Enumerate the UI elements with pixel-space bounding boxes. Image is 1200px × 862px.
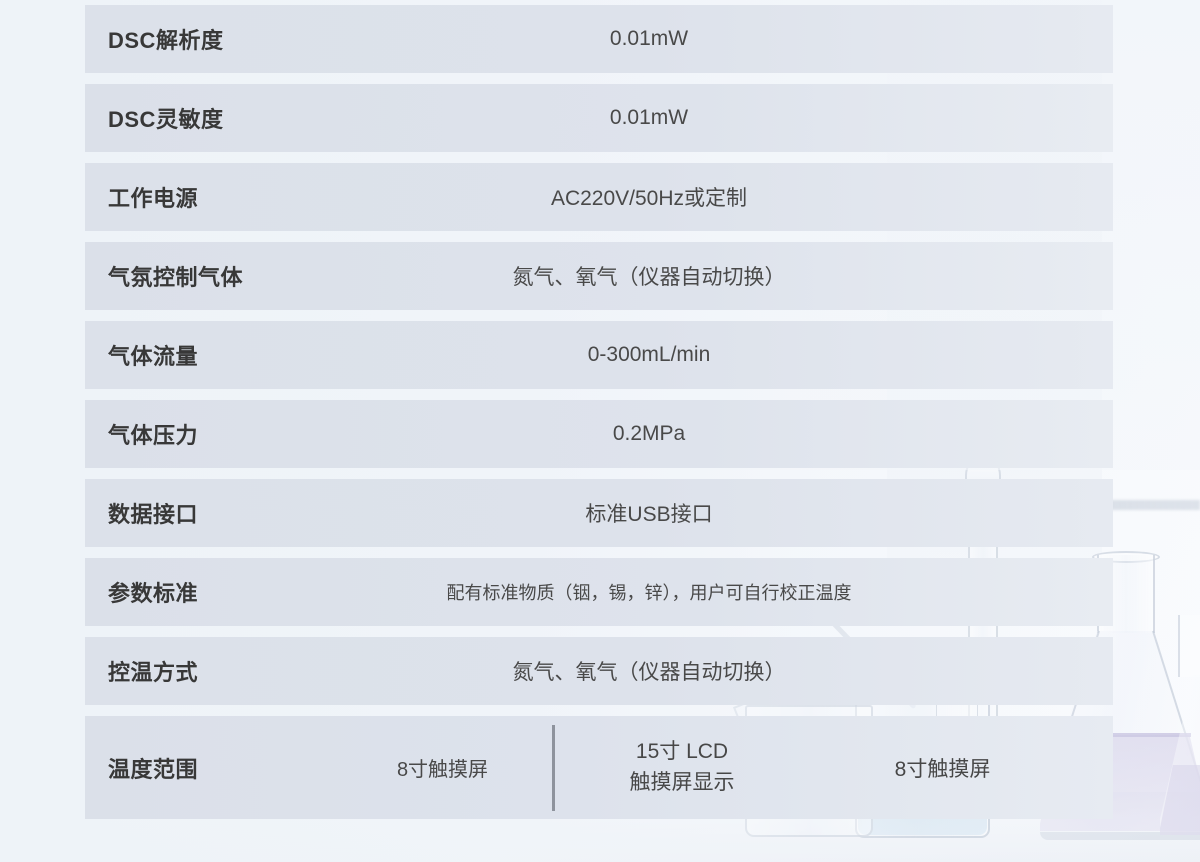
spec-label: 气氛控制气体 bbox=[85, 260, 355, 292]
spec-label: 数据接口 bbox=[85, 497, 355, 529]
specification-table: DSC解析度 0.01mW DSC灵敏度 0.01mW 工作电源 AC220V/… bbox=[85, 5, 1113, 819]
spec-label: DSC解析度 bbox=[85, 23, 355, 55]
spec-row: 数据接口 标准USB接口 bbox=[85, 479, 1113, 547]
spec-value-touchscreen-8inch: 8寸触摸屏 bbox=[335, 753, 550, 782]
spec-row: 控温方式 氮气、氧气（仪器自动切换） bbox=[85, 637, 1113, 705]
spec-value: 0.01mW bbox=[355, 27, 1113, 51]
spec-row: DSC解析度 0.01mW bbox=[85, 5, 1113, 73]
partial-flask-right-edge-icon bbox=[1178, 615, 1200, 840]
flask-neck bbox=[1178, 615, 1200, 677]
spec-value-touchscreen-8inch-right: 8寸触摸屏 bbox=[807, 753, 1113, 783]
spec-value: 标准USB接口 bbox=[355, 498, 1113, 528]
spec-value: 0-300mL/min bbox=[355, 343, 1113, 367]
spec-label: 气体流量 bbox=[85, 339, 355, 371]
lcd-line-2: 触摸屏显示 bbox=[557, 768, 807, 798]
spec-label: 气体压力 bbox=[85, 418, 355, 450]
spec-value: 氮气、氧气（仪器自动切换） bbox=[355, 656, 1113, 686]
column-divider bbox=[552, 725, 555, 811]
spec-row: DSC灵敏度 0.01mW bbox=[85, 84, 1113, 152]
spec-label: DSC灵敏度 bbox=[85, 102, 355, 134]
spec-row: 气氛控制气体 氮气、氧气（仪器自动切换） bbox=[85, 242, 1113, 310]
spec-value: AC220V/50Hz或定制 bbox=[355, 182, 1113, 212]
spec-value: 配有标准物质（铟，锡，锌），用户可自行校正温度 bbox=[355, 579, 1113, 605]
spec-row: 工作电源 AC220V/50Hz或定制 bbox=[85, 163, 1113, 231]
spec-value: 氮气、氧气（仪器自动切换） bbox=[355, 261, 1113, 291]
spec-value: 0.01mW bbox=[355, 106, 1113, 130]
spec-label: 温度范围 bbox=[85, 752, 335, 784]
lcd-line-1: 15寸 LCD bbox=[557, 737, 807, 767]
spec-label: 工作电源 bbox=[85, 181, 355, 213]
spec-row: 气体压力 0.2MPa bbox=[85, 400, 1113, 468]
spec-value: 0.2MPa bbox=[355, 422, 1113, 446]
spec-row: 参数标准 配有标准物质（铟，锡，锌），用户可自行校正温度 bbox=[85, 558, 1113, 626]
spec-row-temperature-range: 温度范围 8寸触摸屏 15寸 LCD 触摸屏显示 8寸触摸屏 bbox=[85, 716, 1113, 819]
spec-label: 控温方式 bbox=[85, 655, 355, 687]
spec-label: 参数标准 bbox=[85, 576, 355, 608]
spec-value-lcd-15inch: 15寸 LCD 触摸屏显示 bbox=[557, 737, 807, 798]
spec-row: 气体流量 0-300mL/min bbox=[85, 321, 1113, 389]
